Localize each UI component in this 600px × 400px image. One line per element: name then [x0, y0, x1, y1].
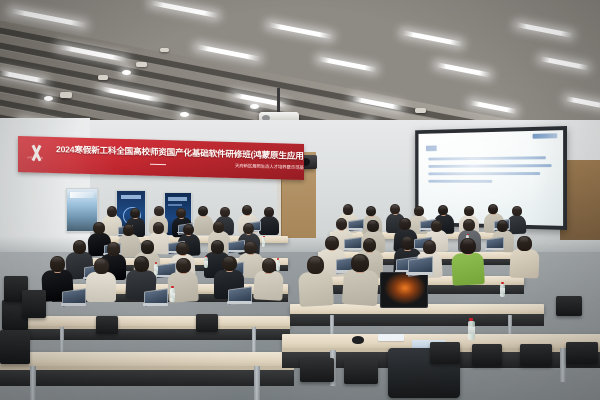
ceiling-light: [565, 96, 600, 109]
person-head: [50, 256, 65, 272]
person-head: [497, 220, 508, 232]
person-head: [463, 219, 474, 231]
person-head: [176, 242, 189, 255]
chair: [0, 330, 30, 364]
person-torso: [298, 271, 334, 307]
person-head: [262, 258, 277, 273]
monitor-glyph-icon: [381, 307, 393, 308]
person-hair-highlight: [403, 237, 411, 242]
person-torso: [259, 216, 278, 235]
person-hair-highlight: [368, 207, 374, 211]
person-head: [94, 258, 109, 274]
ceiling-light: [317, 56, 377, 72]
ceiling-light: [469, 100, 517, 114]
person-head: [401, 236, 415, 250]
water-bottle: [500, 282, 505, 297]
water-bottle: [468, 318, 475, 340]
person-hair-highlight: [96, 259, 105, 265]
bottle-label: [204, 261, 208, 265]
person-hair-highlight: [75, 241, 83, 246]
water-bottle: [170, 286, 175, 302]
desktop-monitor: [380, 272, 428, 308]
ceiling-sensor: [136, 62, 147, 67]
chair: [430, 342, 460, 364]
person-hair-highlight: [425, 241, 433, 246]
person-hair-highlight: [416, 207, 422, 211]
water-bottle: [204, 256, 208, 268]
chair: [344, 360, 378, 384]
ceiling-downlight: [180, 112, 189, 117]
person-head: [73, 240, 86, 254]
person-head: [93, 222, 104, 234]
person-head: [123, 224, 134, 236]
person-head: [154, 206, 164, 216]
desk-row-2-front: [26, 329, 290, 340]
chair: [472, 344, 502, 366]
person-head: [431, 220, 442, 232]
laptop-base: [485, 248, 504, 250]
person-head: [183, 224, 194, 235]
person-hair-highlight: [245, 224, 252, 228]
classroom-photo: XUEXIYUAN 2024寒假新工科全国高校师资国产化基础软件研修班(鸿蒙原生…: [0, 0, 600, 400]
bottle-label: [170, 293, 175, 298]
person-hair-highlight: [337, 219, 344, 224]
person-head: [220, 207, 230, 217]
person-torso: [452, 252, 485, 285]
ceiling-light: [435, 62, 491, 78]
person-hair-highlight: [200, 207, 206, 211]
person-hair-highlight: [466, 207, 472, 211]
person-head: [517, 236, 531, 251]
person-head: [460, 238, 476, 254]
person-head: [134, 256, 149, 272]
document-sheet: [378, 334, 404, 341]
person-head: [325, 236, 339, 250]
person: [258, 207, 280, 237]
person-head: [512, 206, 522, 216]
ceiling-light: [515, 22, 573, 38]
person-hair-highlight: [514, 207, 520, 211]
chair: [556, 296, 582, 316]
person-head: [243, 223, 254, 234]
projector-pole: [277, 88, 280, 114]
laptop-base: [61, 303, 86, 306]
person-hair-highlight: [490, 205, 496, 209]
person-hair-highlight: [520, 237, 529, 243]
person: [508, 236, 541, 280]
person-head: [141, 240, 154, 254]
person-hair-highlight: [108, 207, 114, 211]
person-head: [343, 204, 353, 215]
person-head: [264, 207, 274, 217]
person-hair-highlight: [401, 219, 408, 223]
person: [340, 254, 380, 308]
person-hair-highlight: [95, 223, 102, 227]
laptop: [486, 238, 504, 251]
person-hair-highlight: [266, 208, 272, 212]
water-bottle: [154, 262, 158, 275]
laptop: [144, 290, 168, 307]
laptop: [228, 288, 252, 305]
ceiling-downlight: [44, 96, 53, 101]
chair: [300, 358, 334, 382]
person-hair-highlight: [392, 205, 398, 209]
person-head: [153, 222, 164, 234]
ceiling-light: [149, 0, 219, 18]
bottle-label: [468, 327, 475, 334]
laptop: [408, 258, 434, 277]
person-hair-highlight: [178, 259, 187, 265]
ceiling-light: [195, 44, 261, 62]
person-torso: [86, 272, 116, 302]
chair: [96, 316, 118, 334]
person-head: [107, 242, 120, 256]
ceiling-downlight: [250, 104, 259, 109]
person-head: [213, 221, 224, 233]
laptop: [62, 290, 86, 307]
person-torso: [341, 269, 378, 306]
person-head: [336, 218, 348, 230]
person-head: [464, 206, 474, 216]
person-head: [211, 240, 224, 254]
person-hair-highlight: [465, 220, 472, 224]
chair: [22, 290, 46, 318]
ceiling-downlight: [122, 70, 131, 75]
person-hair-highlight: [463, 239, 473, 245]
ceiling-fixture: [415, 108, 426, 113]
person-head: [399, 218, 410, 230]
person-hair-highlight: [327, 237, 335, 242]
person-head: [363, 238, 377, 252]
monitor-wallpaper: [381, 273, 427, 307]
person-hair-highlight: [178, 243, 186, 248]
person-torso: [253, 271, 284, 302]
person-hair-highlight: [354, 255, 365, 262]
desk-row-1: [0, 352, 294, 367]
ceiling-sensor: [160, 48, 169, 52]
person-hair-highlight: [109, 243, 117, 248]
person: [450, 238, 487, 287]
desk-row-1-front: [0, 370, 294, 386]
ceiling-light: [267, 22, 333, 40]
ceiling-fixture: [60, 92, 72, 98]
desk-leg: [30, 366, 36, 400]
person-hair-highlight: [156, 207, 162, 211]
person-hair-highlight: [344, 205, 350, 209]
laptop-base: [227, 301, 252, 304]
chair: [520, 344, 552, 366]
person-hair-highlight: [433, 221, 440, 225]
person-head: [176, 258, 191, 273]
laptop-base: [143, 303, 168, 306]
person-head: [423, 240, 436, 254]
person-hair-highlight: [365, 239, 373, 244]
person-hair-highlight: [246, 242, 254, 247]
person-hair-highlight: [213, 241, 221, 246]
person-head: [414, 206, 424, 216]
person: [252, 258, 286, 303]
person-hair-highlight: [136, 257, 145, 263]
person-head: [351, 254, 368, 272]
person: [296, 256, 335, 308]
person-hair-highlight: [440, 206, 446, 210]
person-head: [244, 241, 257, 254]
person-hair-highlight: [52, 257, 61, 263]
person-hair-highlight: [143, 241, 151, 246]
chair: [196, 314, 218, 332]
ceiling-fixture: [98, 75, 108, 80]
person-hair-highlight: [222, 208, 228, 212]
person-hair-highlight: [369, 221, 376, 225]
person-head: [307, 256, 324, 274]
ceiling-light: [539, 56, 589, 70]
person-head: [367, 220, 378, 232]
person-hair-highlight: [215, 222, 222, 226]
person-hair-highlight: [125, 225, 132, 229]
person: [84, 258, 119, 304]
person-hair-highlight: [224, 257, 233, 263]
person-hair-highlight: [244, 206, 250, 210]
person-hair-highlight: [185, 225, 192, 229]
computer-mouse: [352, 336, 364, 344]
person-head: [107, 206, 117, 217]
person-hair-highlight: [310, 257, 320, 264]
bottle-label: [500, 288, 505, 293]
person-torso: [510, 249, 540, 279]
desk-row-2b-front: [290, 314, 544, 326]
laptop-base: [406, 272, 433, 275]
person-hair-highlight: [178, 209, 184, 213]
person-hair-highlight: [132, 209, 138, 213]
bottle-label: [154, 267, 158, 271]
chair: [566, 342, 598, 364]
person-head: [222, 256, 237, 271]
ceiling-light: [401, 30, 463, 47]
person-hair-highlight: [499, 221, 506, 225]
person-hair-highlight: [264, 259, 273, 265]
desk-leg: [254, 366, 260, 400]
person-hair-highlight: [155, 223, 162, 227]
